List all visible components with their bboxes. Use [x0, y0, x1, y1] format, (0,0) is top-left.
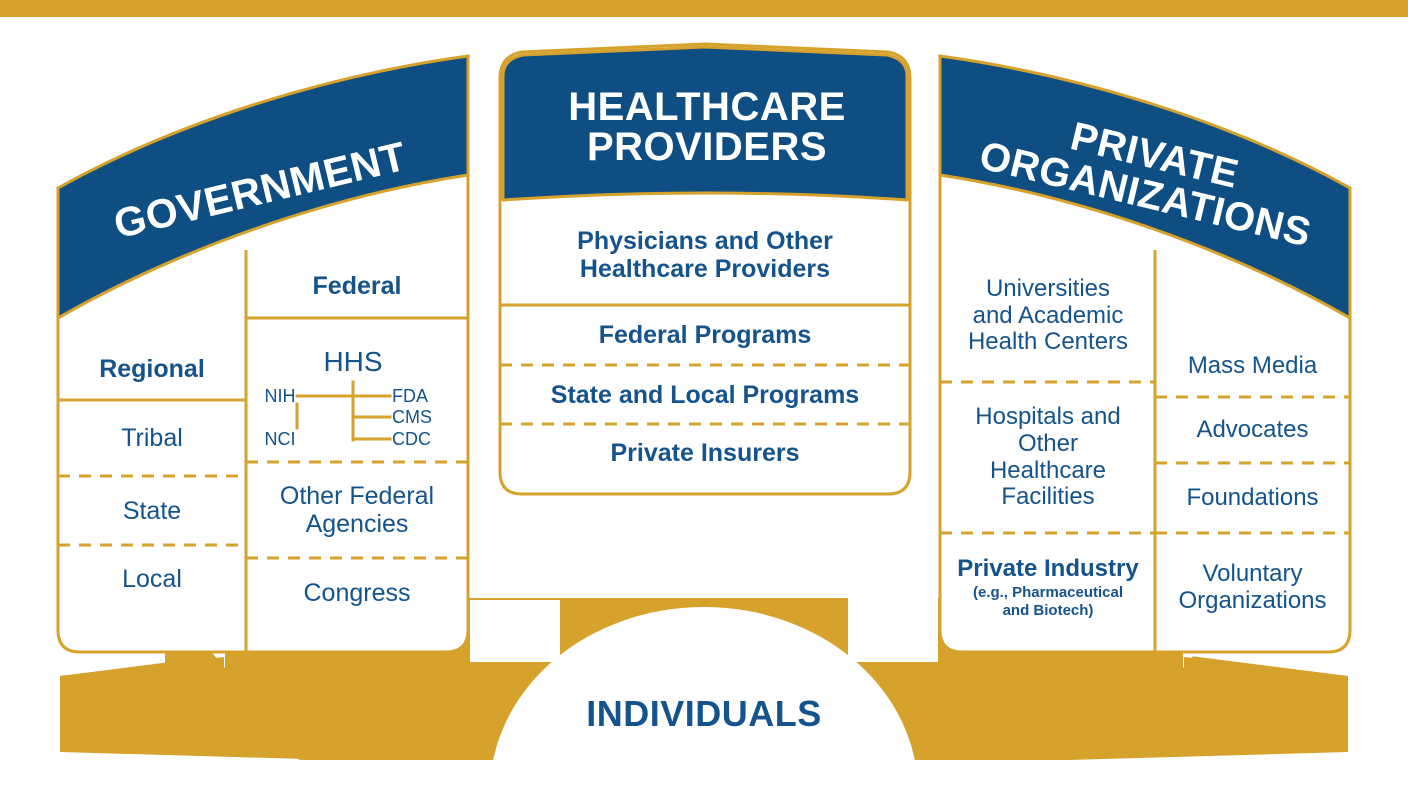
- priv-private-industry-title: Private Industry: [957, 556, 1138, 583]
- hhs-nci-label[interactable]: NCI: [258, 423, 302, 455]
- priv-cell-universities[interactable]: Universities and Academic Health Centers: [942, 250, 1154, 382]
- priv-private-industry-subtitle: (e.g., Pharmaceutical and Biotech): [973, 584, 1123, 620]
- infographic-canvas: GOVERNMENT HEALTHCARE PROVIDERS PRIVATE …: [0, 0, 1408, 792]
- priv-cell-mass-media[interactable]: Mass Media: [1155, 335, 1350, 397]
- individuals-label: INDIVIDUALS: [504, 692, 904, 736]
- gov-cell-regional[interactable]: Regional: [58, 338, 246, 400]
- priv-cell-private-industry[interactable]: Private Industry (e.g., Pharmaceutical a…: [942, 533, 1154, 643]
- hhs-root-label[interactable]: HHS: [318, 342, 388, 382]
- gov-cell-local[interactable]: Local: [58, 545, 246, 613]
- healthcare-providers-banner-title: HEALTHCARE PROVIDERS: [512, 72, 902, 182]
- priv-cell-voluntary-organizations[interactable]: Voluntary Organizations: [1155, 533, 1350, 643]
- top-gold-bar: [0, 0, 1408, 17]
- gov-cell-tribal[interactable]: Tribal: [58, 400, 246, 476]
- hcp-row-federal-programs[interactable]: Federal Programs: [500, 305, 910, 365]
- priv-cell-hospitals[interactable]: Hospitals and Other Healthcare Facilitie…: [942, 382, 1154, 533]
- hcp-row-state-local-programs[interactable]: State and Local Programs: [500, 365, 910, 424]
- gov-cell-congress[interactable]: Congress: [246, 558, 468, 628]
- hhs-cdc-label[interactable]: CDC: [392, 423, 440, 455]
- gov-cell-federal[interactable]: Federal: [246, 255, 468, 317]
- gov-cell-other-federal-agencies[interactable]: Other Federal Agencies: [246, 462, 468, 558]
- gov-cell-state[interactable]: State: [58, 476, 246, 545]
- hcp-row-private-insurers[interactable]: Private Insurers: [500, 424, 910, 482]
- priv-cell-advocates[interactable]: Advocates: [1155, 397, 1350, 463]
- hcp-row-physicians[interactable]: Physicians and Other Healthcare Provider…: [500, 205, 910, 305]
- priv-cell-foundations[interactable]: Foundations: [1155, 463, 1350, 533]
- hhs-nih-label[interactable]: NIH: [258, 380, 302, 412]
